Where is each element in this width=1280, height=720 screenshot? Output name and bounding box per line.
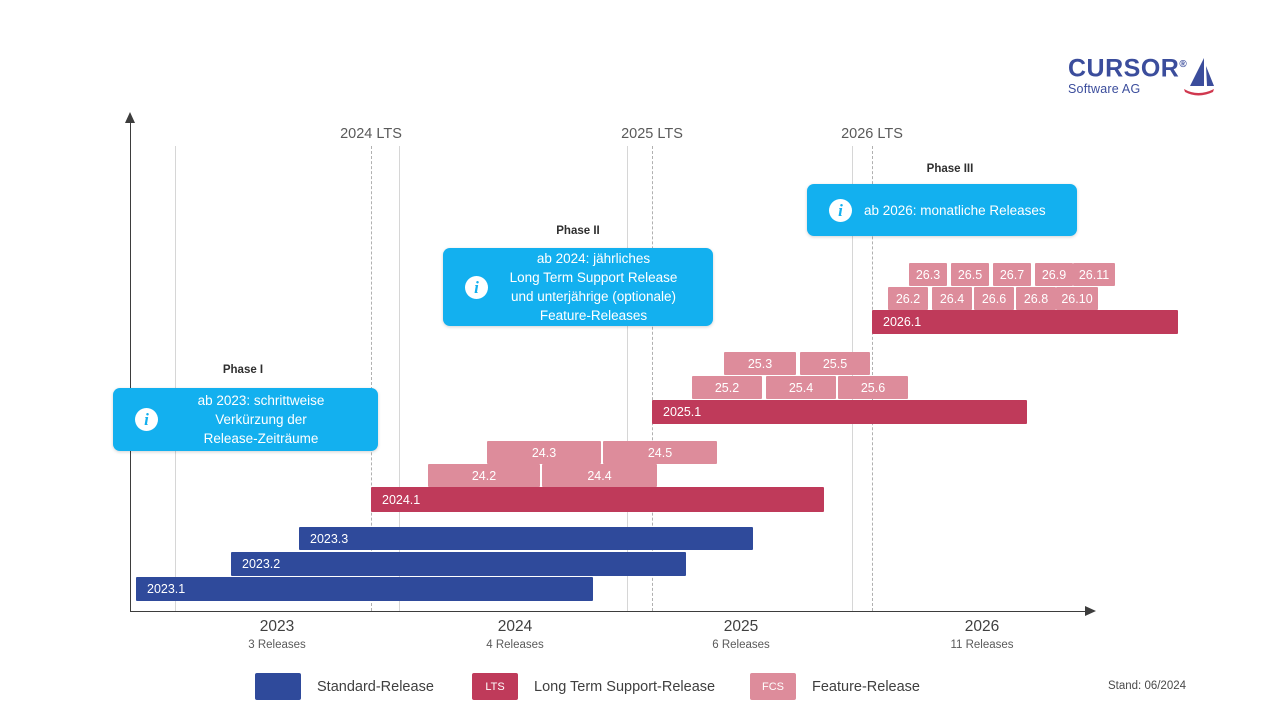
lts-marker-label-1: 2025 LTS bbox=[621, 126, 683, 142]
release-bar-26-3[interactable]: 26.3 bbox=[909, 263, 947, 286]
release-bar-2026-1[interactable]: 2026.1 bbox=[872, 310, 1178, 334]
release-count-label: 3 Releases bbox=[248, 637, 306, 653]
legend-label-lts: Long Term Support-Release bbox=[534, 679, 715, 695]
release-bar-26-6[interactable]: 26.6 bbox=[974, 287, 1014, 310]
release-bar-2023-3[interactable]: 2023.3 bbox=[299, 527, 753, 550]
phase-2-title: Phase II bbox=[556, 225, 599, 237]
phase-2-callout[interactable]: i ab 2024: jährlichesLong Term Support R… bbox=[443, 248, 713, 326]
release-bar-25-6[interactable]: 25.6 bbox=[838, 376, 908, 399]
release-count-label: 6 Releases bbox=[712, 637, 770, 653]
year-label: 2026 bbox=[950, 617, 1013, 637]
legend-item-lts: LTSLong Term Support-Release bbox=[472, 673, 715, 700]
release-bar-25-4[interactable]: 25.4 bbox=[766, 376, 836, 399]
legend-swatch-fcs: FCS bbox=[750, 673, 796, 700]
chart-legend: Standard-ReleaseLTSLong Term Support-Rel… bbox=[0, 673, 1280, 703]
info-icon: i bbox=[135, 408, 158, 431]
legend-swatch-standard bbox=[255, 673, 301, 700]
info-icon: i bbox=[829, 199, 852, 222]
release-bar-25-3[interactable]: 25.3 bbox=[724, 352, 796, 375]
phase-3-callout-text: ab 2026: monatliche Releases bbox=[864, 201, 1077, 220]
phase-2-callout-text: ab 2024: jährlichesLong Term Support Rel… bbox=[500, 249, 713, 325]
release-bar-26-2[interactable]: 26.2 bbox=[888, 287, 928, 310]
year-tick-2023: 20233 Releases bbox=[248, 617, 306, 653]
year-label: 2023 bbox=[248, 617, 306, 637]
phase-1-title: Phase I bbox=[223, 364, 263, 376]
release-bar-2023-1[interactable]: 2023.1 bbox=[136, 577, 593, 601]
release-bar-24-4[interactable]: 24.4 bbox=[542, 464, 657, 487]
release-bar-25-5[interactable]: 25.5 bbox=[800, 352, 870, 375]
lts-marker-label-0: 2024 LTS bbox=[340, 126, 402, 142]
release-bar-2023-2[interactable]: 2023.2 bbox=[231, 552, 686, 576]
release-bar-26-9[interactable]: 26.9 bbox=[1035, 263, 1073, 286]
year-label: 2025 bbox=[712, 617, 770, 637]
phase-1-callout[interactable]: i ab 2023: schrittweiseVerkürzung derRel… bbox=[113, 388, 378, 451]
release-count-label: 4 Releases bbox=[486, 637, 544, 653]
release-bar-26-11[interactable]: 26.11 bbox=[1073, 263, 1115, 286]
info-icon: i bbox=[465, 276, 488, 299]
year-tick-2026: 202611 Releases bbox=[950, 617, 1013, 653]
x-axis-line bbox=[130, 611, 1090, 612]
legend-label-fcs: Feature-Release bbox=[812, 679, 920, 695]
phase-3-callout[interactable]: i ab 2026: monatliche Releases bbox=[807, 184, 1077, 236]
release-bar-25-2[interactable]: 25.2 bbox=[692, 376, 762, 399]
release-bar-26-7[interactable]: 26.7 bbox=[993, 263, 1031, 286]
release-bar-26-4[interactable]: 26.4 bbox=[932, 287, 972, 310]
year-tick-2025: 20256 Releases bbox=[712, 617, 770, 653]
year-tick-2024: 20244 Releases bbox=[486, 617, 544, 653]
y-axis-line bbox=[130, 120, 131, 612]
legend-item-standard: Standard-Release bbox=[255, 673, 434, 700]
release-bar-26-5[interactable]: 26.5 bbox=[951, 263, 989, 286]
release-bar-26-10[interactable]: 26.10 bbox=[1056, 287, 1098, 310]
release-bar-24-2[interactable]: 24.2 bbox=[428, 464, 540, 487]
release-bar-2025-1[interactable]: 2025.1 bbox=[652, 400, 1027, 424]
release-roadmap-chart: 2024 LTS2025 LTS2026 LTS 26.326.526.726.… bbox=[0, 0, 1280, 720]
legend-swatch-lts: LTS bbox=[472, 673, 518, 700]
release-count-label: 11 Releases bbox=[950, 637, 1013, 653]
release-bar-24-5[interactable]: 24.5 bbox=[603, 441, 717, 464]
y-axis-arrow bbox=[125, 112, 135, 123]
lts-marker-label-2: 2026 LTS bbox=[841, 126, 903, 142]
legend-item-fcs: FCSFeature-Release bbox=[750, 673, 920, 700]
release-bar-24-3[interactable]: 24.3 bbox=[487, 441, 601, 464]
stand-date: Stand: 06/2024 bbox=[1108, 680, 1186, 692]
release-bar-2024-1[interactable]: 2024.1 bbox=[371, 487, 824, 512]
release-bar-26-8[interactable]: 26.8 bbox=[1016, 287, 1056, 310]
gridline-0 bbox=[175, 146, 176, 611]
year-label: 2024 bbox=[486, 617, 544, 637]
phase-3-title: Phase III bbox=[927, 163, 974, 175]
phase-1-callout-text: ab 2023: schrittweiseVerkürzung derRelea… bbox=[170, 391, 378, 448]
legend-label-standard: Standard-Release bbox=[317, 679, 434, 695]
x-axis-arrow bbox=[1085, 606, 1096, 616]
